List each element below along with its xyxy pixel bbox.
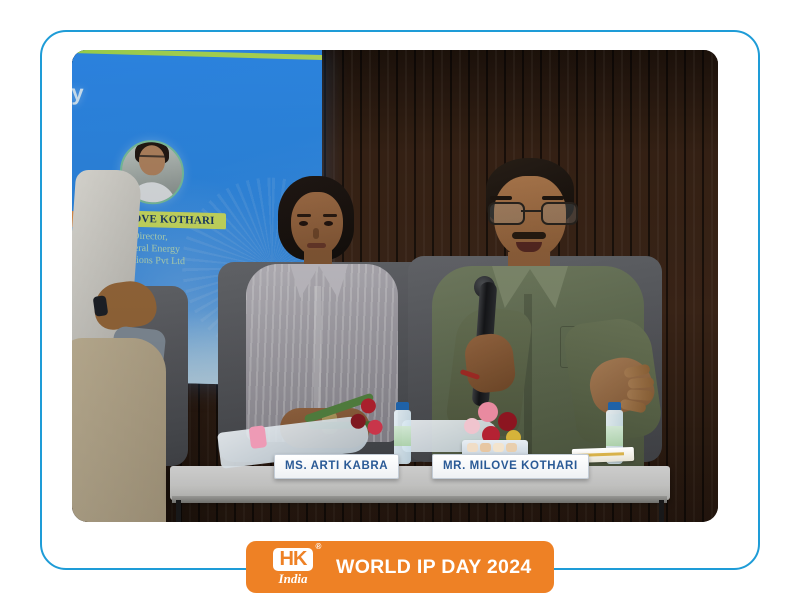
bottle-label: [606, 426, 623, 446]
hk-india-logo: HK ® India: [262, 548, 324, 586]
bridge: [521, 210, 541, 212]
rose: [367, 419, 384, 436]
bottle-label: [394, 426, 411, 446]
table-leg: [659, 500, 664, 522]
sweet: [467, 443, 478, 452]
hk-logo-text: HK: [280, 548, 307, 570]
flower: [478, 402, 498, 422]
finger: [628, 377, 655, 389]
flower: [464, 418, 480, 434]
moustache: [512, 232, 546, 239]
world-ip-day-banner: HK ® India WORLD IP DAY 2024: [246, 541, 554, 593]
sweet: [480, 443, 491, 452]
eyebrow: [323, 214, 337, 217]
lens: [488, 202, 525, 225]
hk-logo-mark: HK ®: [273, 548, 314, 571]
bottle-cap: [396, 402, 409, 410]
lens: [541, 202, 578, 225]
registered-trademark-icon: ®: [316, 543, 321, 551]
eye: [324, 221, 333, 226]
bottle-cap: [608, 402, 621, 410]
eyebrow: [490, 196, 512, 200]
sweet: [506, 443, 517, 452]
avatar-glasses-icon: [139, 155, 165, 166]
hk-logo-subtitle: India: [279, 572, 308, 586]
mouth: [307, 243, 326, 248]
wrist-watch: [93, 295, 109, 317]
banner-title: WORLD IP DAY 2024: [336, 556, 531, 579]
legs: [72, 338, 166, 522]
person-left-attendee: [72, 170, 180, 522]
finger: [627, 389, 654, 401]
event-photograph: & Creativity ARTI KABRA nder, celium MR.…: [72, 50, 718, 522]
sweet: [493, 443, 504, 452]
flower: [498, 412, 517, 431]
table-leg: [176, 500, 181, 522]
eyebrow: [297, 214, 311, 217]
eyeglasses-icon: [488, 202, 574, 222]
slide-accent-bar: [72, 50, 322, 60]
ribbon: [249, 425, 268, 449]
name-plate-arti-kabra: MS. ARTI KABRA: [274, 454, 399, 479]
name-plate-milove-kothari: MR. MILOVE KOTHARI: [432, 454, 589, 479]
nose: [313, 228, 319, 239]
eyebrow: [542, 196, 564, 200]
rose: [360, 398, 377, 415]
eye: [299, 221, 308, 226]
slide-title: & Creativity: [72, 77, 84, 107]
table-edge: [172, 496, 667, 503]
